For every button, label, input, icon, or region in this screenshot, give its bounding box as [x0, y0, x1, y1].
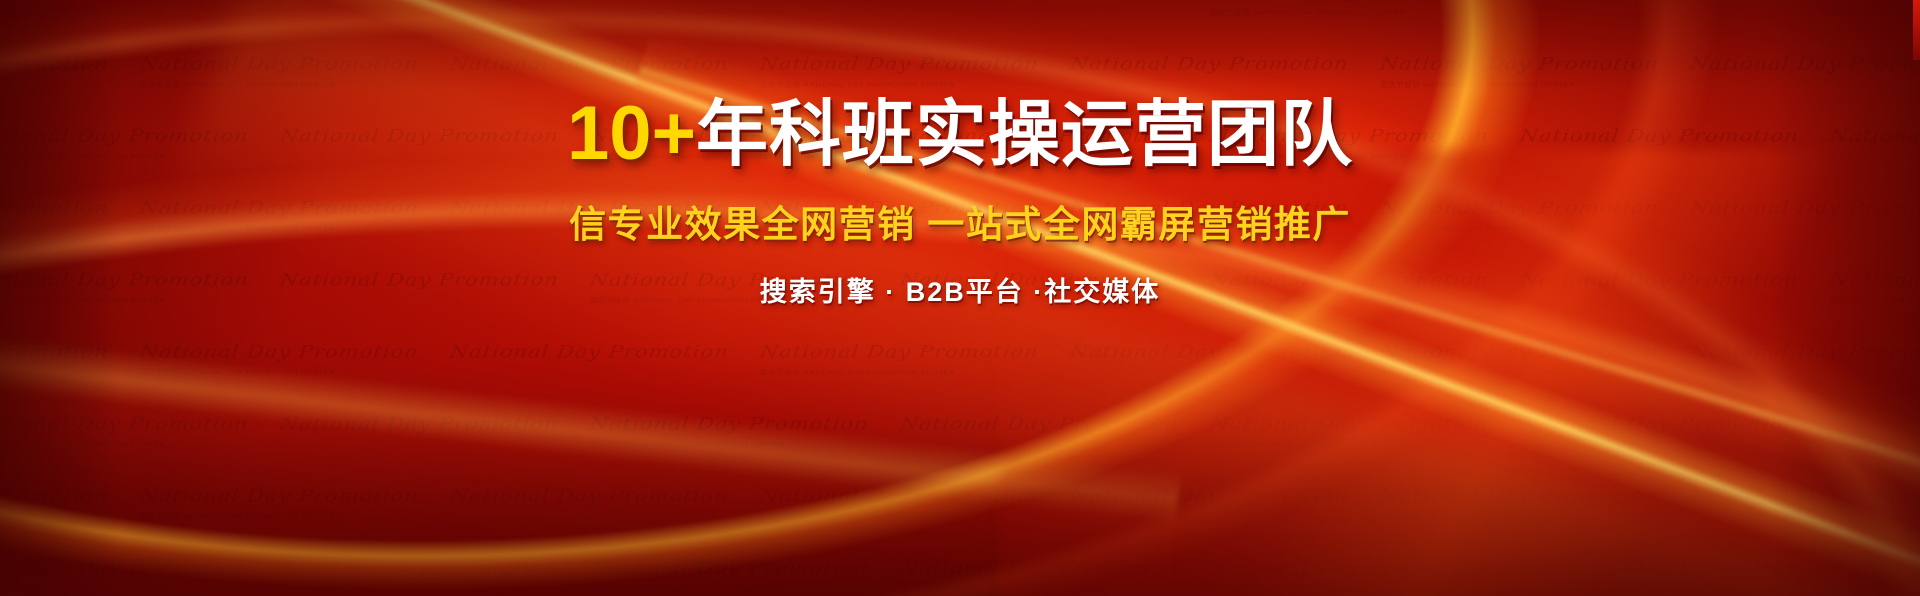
- headline-text: 年科班实操运营团队: [696, 95, 1353, 175]
- banner-content: 10+年科班实操运营团队 信专业效果全网营销 一站式全网霸屏营销推广 搜索引擎 …: [0, 0, 1920, 596]
- tagline: 搜索引擎 · B2B平台 ·社交媒体: [760, 270, 1161, 309]
- subheadline: 信专业效果全网营销 一站式全网霸屏营销推广: [569, 194, 1351, 248]
- headline-number: 10+: [567, 91, 696, 176]
- promo-banner: National Day Promotion国庆节促销 NATIONAL DAY…: [0, 0, 1920, 596]
- headline: 10+年科班实操运营团队: [567, 96, 1353, 172]
